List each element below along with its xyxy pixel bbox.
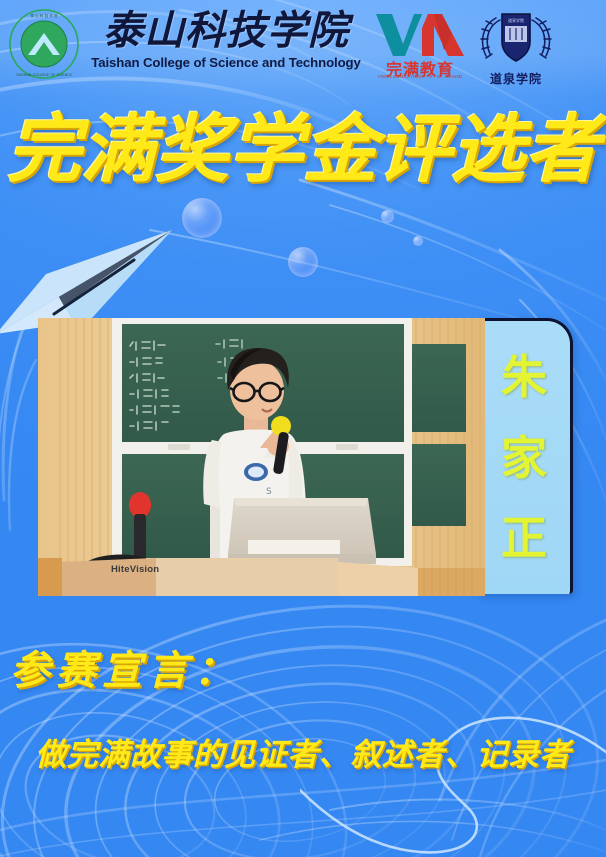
shield-crest-icon: 道泉学院 道泉学院 <box>474 8 558 88</box>
slogan-text: 做完满故事的见证者、叙述者、记录者 <box>0 735 606 775</box>
university-name-block: 泰山科技学院 Taishan College of Science and Te… <box>82 8 370 84</box>
bubble-icon <box>288 247 318 277</box>
name-char-2: 家 <box>501 434 547 482</box>
svg-text:泰 山 科 技 学 院: 泰 山 科 技 学 院 <box>30 13 58 18</box>
podium-brand-label: HiteVision <box>111 564 159 575</box>
bubble-icon <box>413 236 423 246</box>
svg-text:道泉学院: 道泉学院 <box>508 17 524 23</box>
crest-label-cn: 道泉学院 <box>474 70 558 87</box>
name-char-3: 正 <box>501 514 547 562</box>
svg-text:S: S <box>266 487 272 497</box>
page-title: 完满奖学金评选者 <box>0 108 606 192</box>
slogan-label: 参赛宣言： <box>10 648 240 694</box>
mountain-seal-icon: 泰 山 科 技 学 院 TAISHAN COLLEGE OF SCIENCE <box>8 8 80 80</box>
candidate-name-panel: 朱 家 正 <box>478 318 573 594</box>
name-char-1: 朱 <box>501 353 547 401</box>
student-presenting-photo: S <box>38 318 485 596</box>
photo-canvas: S <box>38 318 485 596</box>
svg-text:TAISHAN COLLEGE OF SCIENCE: TAISHAN COLLEGE OF SCIENCE <box>15 73 73 77</box>
scholarship-poster: 泰 山 科 技 学 院 TAISHAN COLLEGE OF SCIENCE 泰… <box>0 0 606 857</box>
vm-logo-label-en: VMAN EDUCATION I . V . M . BRAND <box>372 74 468 79</box>
vm-logo-icon: 完满教育 VMAN EDUCATION I . V . M . BRAND <box>372 12 468 84</box>
poster-header: 泰 山 科 技 学 院 TAISHAN COLLEGE OF SCIENCE 泰… <box>0 0 606 98</box>
university-name-en: Taishan College of Science and Technolog… <box>82 55 370 70</box>
bubble-icon <box>182 198 222 238</box>
bubble-icon <box>381 210 394 223</box>
university-name-cn: 泰山科技学院 <box>82 8 370 54</box>
